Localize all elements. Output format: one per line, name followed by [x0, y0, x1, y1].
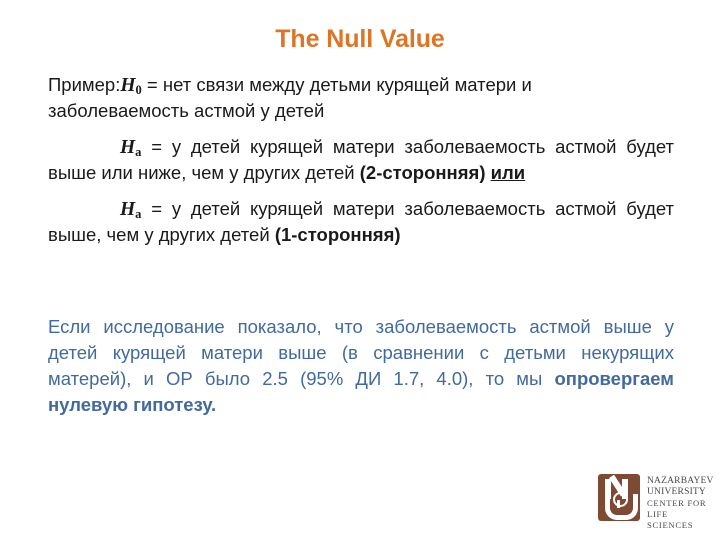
nazarbayev-university-logo: NAZARBAYEV UNIVERSITY CENTER FOR LIFE SC… [598, 474, 716, 526]
logo-line-1: NAZARBAYEV [647, 476, 716, 487]
alt-hypothesis-two-sided-paragraph: Ha = у детей курящей матери заболеваемос… [48, 134, 674, 185]
body-content: Пример:H0 = нет связи между детьми курящ… [48, 72, 674, 258]
equals-sign: = [151, 136, 162, 157]
equals-sign: = [151, 198, 162, 219]
null-hypothesis-paragraph: Пример:H0 = нет связи между детьми курящ… [48, 72, 674, 123]
slide: The Null Value Пример:H0 = нет связи меж… [0, 0, 720, 540]
alt-hypothesis-one-sided-paragraph: Ha = у детей курящей матери заболеваемос… [48, 196, 674, 247]
one-sided-emphasis: (1-сторонняя) [275, 224, 401, 245]
connector-or: или [491, 162, 526, 183]
two-sided-emphasis: (2-сторонняя) [360, 162, 486, 183]
h-alt-symbol-one-sided: Ha [120, 199, 141, 220]
logo-line-4: LIFE SCIENCES [647, 509, 716, 531]
university-monogram-icon [598, 474, 640, 521]
h-null-symbol: H0 [120, 75, 141, 96]
logo-wordmark: NAZARBAYEV UNIVERSITY CENTER FOR LIFE SC… [647, 474, 716, 531]
h-alt-symbol-two-sided: Ha [120, 137, 141, 158]
page-title: The Null Value [0, 26, 720, 54]
logo-line-2: UNIVERSITY [647, 487, 716, 498]
example-label: Пример: [48, 74, 120, 95]
logo-line-3: CENTER FOR [647, 498, 716, 509]
equals-sign: = [147, 74, 158, 95]
conclusion-paragraph: Если исследование показало, что заболева… [48, 314, 674, 418]
